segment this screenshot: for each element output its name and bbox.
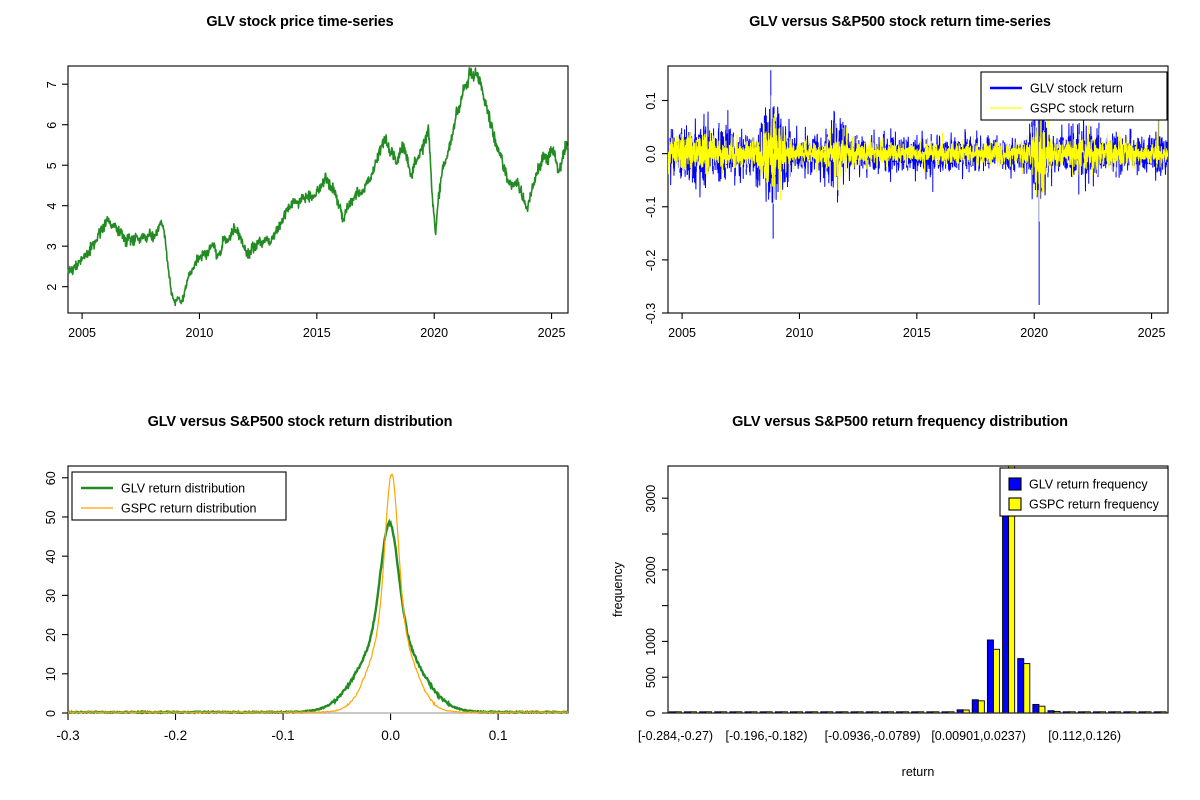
y-tick-label: 60	[44, 471, 58, 485]
y-tick-label: 4	[45, 203, 59, 210]
x-tick-label: [-0.0936,-0.0789)	[825, 729, 921, 743]
y-tick-label: 0.1	[644, 92, 658, 109]
histogram-bar	[987, 640, 993, 713]
y-tick-label: 2000	[644, 556, 658, 584]
figure-grid: GLV stock price time-series 234567200520…	[0, 0, 1200, 800]
y-tick-label: 0	[644, 710, 658, 717]
y-tick-label: 1000	[644, 628, 658, 656]
x-tick-label: 2020	[1020, 326, 1048, 340]
histogram-bar	[1003, 487, 1009, 713]
histogram-bar	[972, 700, 978, 713]
histogram-bar	[978, 701, 984, 713]
x-tick-label: [-0.196,-0.182)	[725, 729, 807, 743]
return-density-plot: 0102030405060-0.3-0.2-0.10.00.1GLV retur…	[0, 400, 600, 800]
histogram-bar	[1024, 664, 1030, 713]
histogram-bar	[1039, 706, 1045, 713]
y-tick-label: 2	[45, 284, 59, 291]
glv-price-line	[68, 68, 568, 306]
x-tick-label: 2005	[668, 326, 696, 340]
y-tick-label: 20	[44, 628, 58, 642]
legend-swatch-gspc	[1009, 498, 1021, 510]
x-tick-label: 2005	[68, 326, 96, 340]
x-tick-label: 2015	[303, 326, 331, 340]
x-tick-label: -0.1	[271, 728, 294, 743]
panel-return-distribution: GLV versus S&P500 stock return distribut…	[0, 400, 600, 800]
histogram-bar	[1033, 704, 1039, 713]
y-tick-label: 7	[45, 81, 59, 88]
y-tick-label: 5	[45, 162, 59, 169]
return-frequency-plot: 0500100020003000frequencyreturn[-0.284,-…	[600, 400, 1200, 800]
x-tick-label: [-0.284,-0.27)	[638, 729, 713, 743]
histogram-bar	[1018, 659, 1024, 713]
x-tick-label: -0.2	[164, 728, 187, 743]
x-tick-label: 2010	[786, 326, 814, 340]
panel-return-timeseries: GLV versus S&P500 stock return time-seri…	[600, 0, 1200, 400]
return-timeseries-plot: -0.3-0.2-0.10.00.120052010201520202025GL…	[600, 0, 1200, 400]
y-tick-label: -0.1	[644, 196, 658, 218]
x-axis-label: return	[902, 765, 935, 779]
legend-label: GSPC stock return	[1030, 102, 1134, 116]
legend-label: GSPC return distribution	[121, 502, 257, 516]
histogram-bar	[993, 649, 999, 713]
y-tick-label: 50	[44, 510, 58, 524]
x-tick-label: -0.3	[56, 728, 79, 743]
y-tick-label: 30	[44, 589, 58, 603]
x-tick-label: 2010	[186, 326, 214, 340]
legend-label: GLV return frequency	[1029, 478, 1148, 492]
x-tick-label: 2015	[903, 326, 931, 340]
y-tick-label: 10	[44, 667, 58, 681]
y-tick-label: 0.0	[644, 145, 658, 162]
legend-label: GLV return distribution	[121, 482, 245, 496]
panel-return-frequency: GLV versus S&P500 return frequency distr…	[600, 400, 1200, 800]
y-axis-label: frequency	[611, 561, 625, 617]
x-tick-label: 2025	[1138, 326, 1166, 340]
glv-density-line	[68, 522, 568, 713]
x-tick-label: 2020	[420, 326, 448, 340]
y-tick-label: 0	[44, 710, 58, 717]
legend-swatch-glv	[1009, 478, 1021, 490]
legend-label: GLV stock return	[1030, 82, 1123, 96]
y-tick-label: 6	[45, 122, 59, 129]
y-tick-label: -0.3	[644, 303, 658, 325]
x-tick-label: [0.112,0.126)	[1048, 729, 1121, 743]
y-tick-label: 3	[45, 243, 59, 250]
legend-label: GSPC return frequency	[1029, 498, 1160, 512]
x-tick-label: 0.0	[381, 728, 400, 743]
y-tick-label: -0.2	[644, 250, 658, 272]
x-tick-label: 2025	[538, 326, 566, 340]
y-tick-label: 500	[644, 667, 658, 688]
y-tick-label: 40	[44, 550, 58, 564]
glv-price-plot: 23456720052010201520202025	[0, 0, 600, 400]
y-tick-label: 3000	[644, 485, 658, 513]
x-tick-label: 0.1	[489, 728, 508, 743]
x-tick-label: [0.00901,0.0237)	[931, 729, 1026, 743]
panel-glv-price-timeseries: GLV stock price time-series 234567200520…	[0, 0, 600, 400]
